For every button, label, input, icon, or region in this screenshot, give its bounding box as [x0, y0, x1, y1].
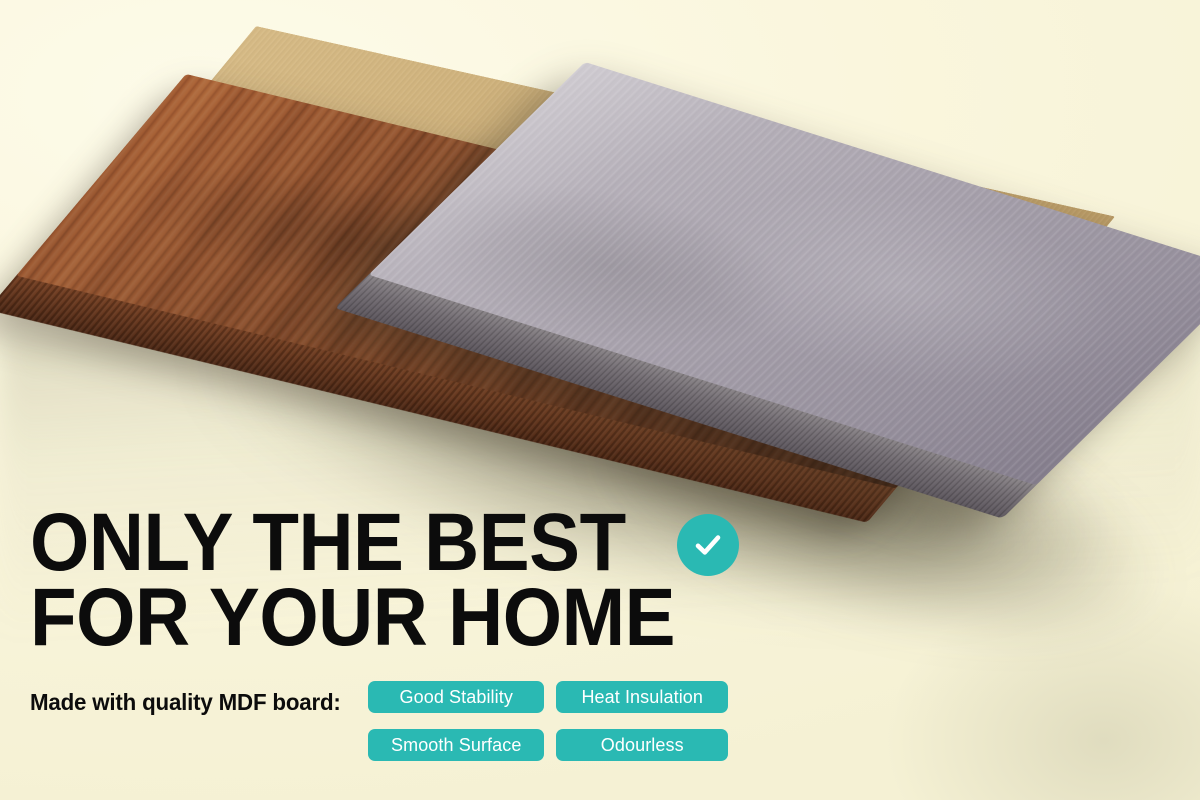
headline-line-1: ONLY THE BEST: [30, 505, 626, 580]
subline-label: Made with quality MDF board:: [30, 681, 341, 714]
feature-badge-heat-insulation[interactable]: Heat Insulation: [556, 681, 728, 713]
subline-block: Made with quality MDF board: Good Stabil…: [30, 681, 728, 761]
feature-badge-good-stability[interactable]: Good Stability: [368, 681, 544, 713]
feature-badge-odourless[interactable]: Odourless: [556, 729, 728, 761]
check-badge-icon: [677, 514, 739, 576]
feature-badge-smooth-surface[interactable]: Smooth Surface: [368, 729, 544, 761]
headline-line-1-row: ONLY THE BEST: [30, 505, 790, 580]
headline-line-2-row: FOR YOUR HOME: [30, 580, 790, 655]
promo-banner: ONLY THE BEST FOR YOUR HOME Made with qu…: [0, 0, 1200, 800]
product-image: [0, 0, 1200, 800]
feature-badge-grid: Good Stability Heat Insulation Smooth Su…: [368, 681, 728, 761]
headline-block: ONLY THE BEST FOR YOUR HOME: [30, 505, 790, 656]
headline-line-2: FOR YOUR HOME: [30, 580, 675, 655]
